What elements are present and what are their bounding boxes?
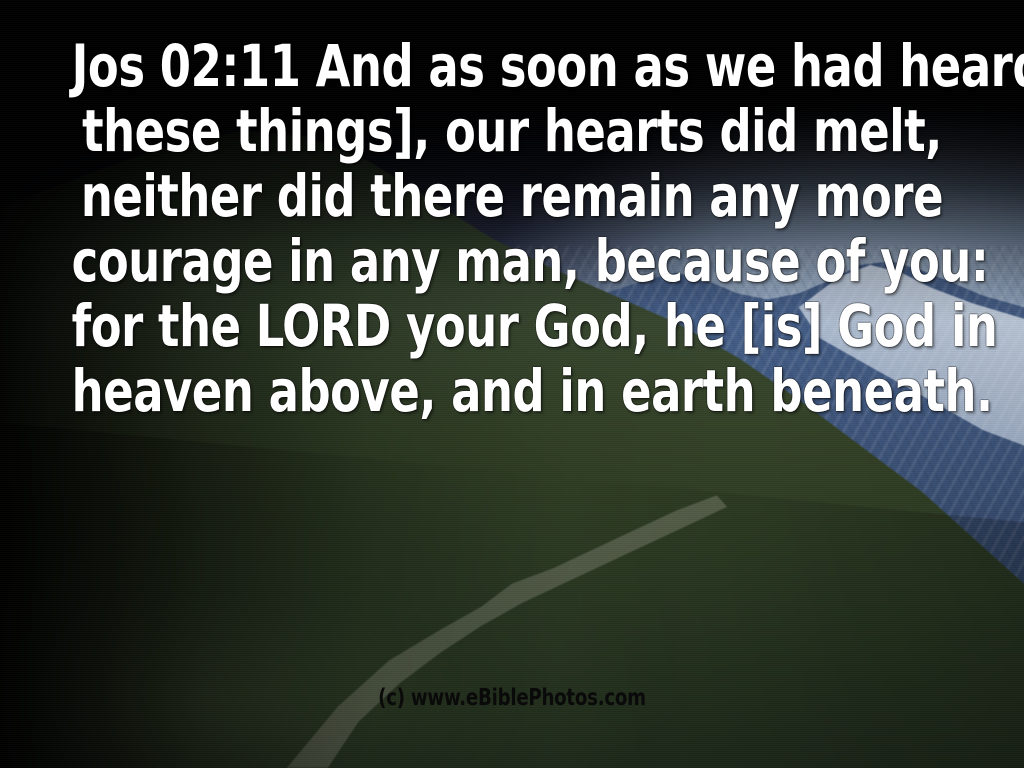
verse-line: for the LORD your God, he [is] God in — [72, 294, 953, 359]
verse-text: Jos 02:11 And as soon as we had heard [ … — [72, 34, 953, 424]
verse-line: Jos 02:11 And as soon as we had heard [ — [72, 34, 953, 99]
verse-line: neither did there remain any more — [72, 164, 953, 229]
verse-line: courage in any man, because of you: — [72, 229, 953, 294]
verse-line: these things], our hearts did melt, — [72, 99, 953, 164]
verse-line: heaven above, and in earth beneath. — [72, 359, 953, 424]
copyright-watermark: (c) www.eBiblePhotos.com — [61, 686, 962, 710]
verse-image: Jos 02:11 And as soon as we had heard [ … — [0, 0, 1024, 768]
